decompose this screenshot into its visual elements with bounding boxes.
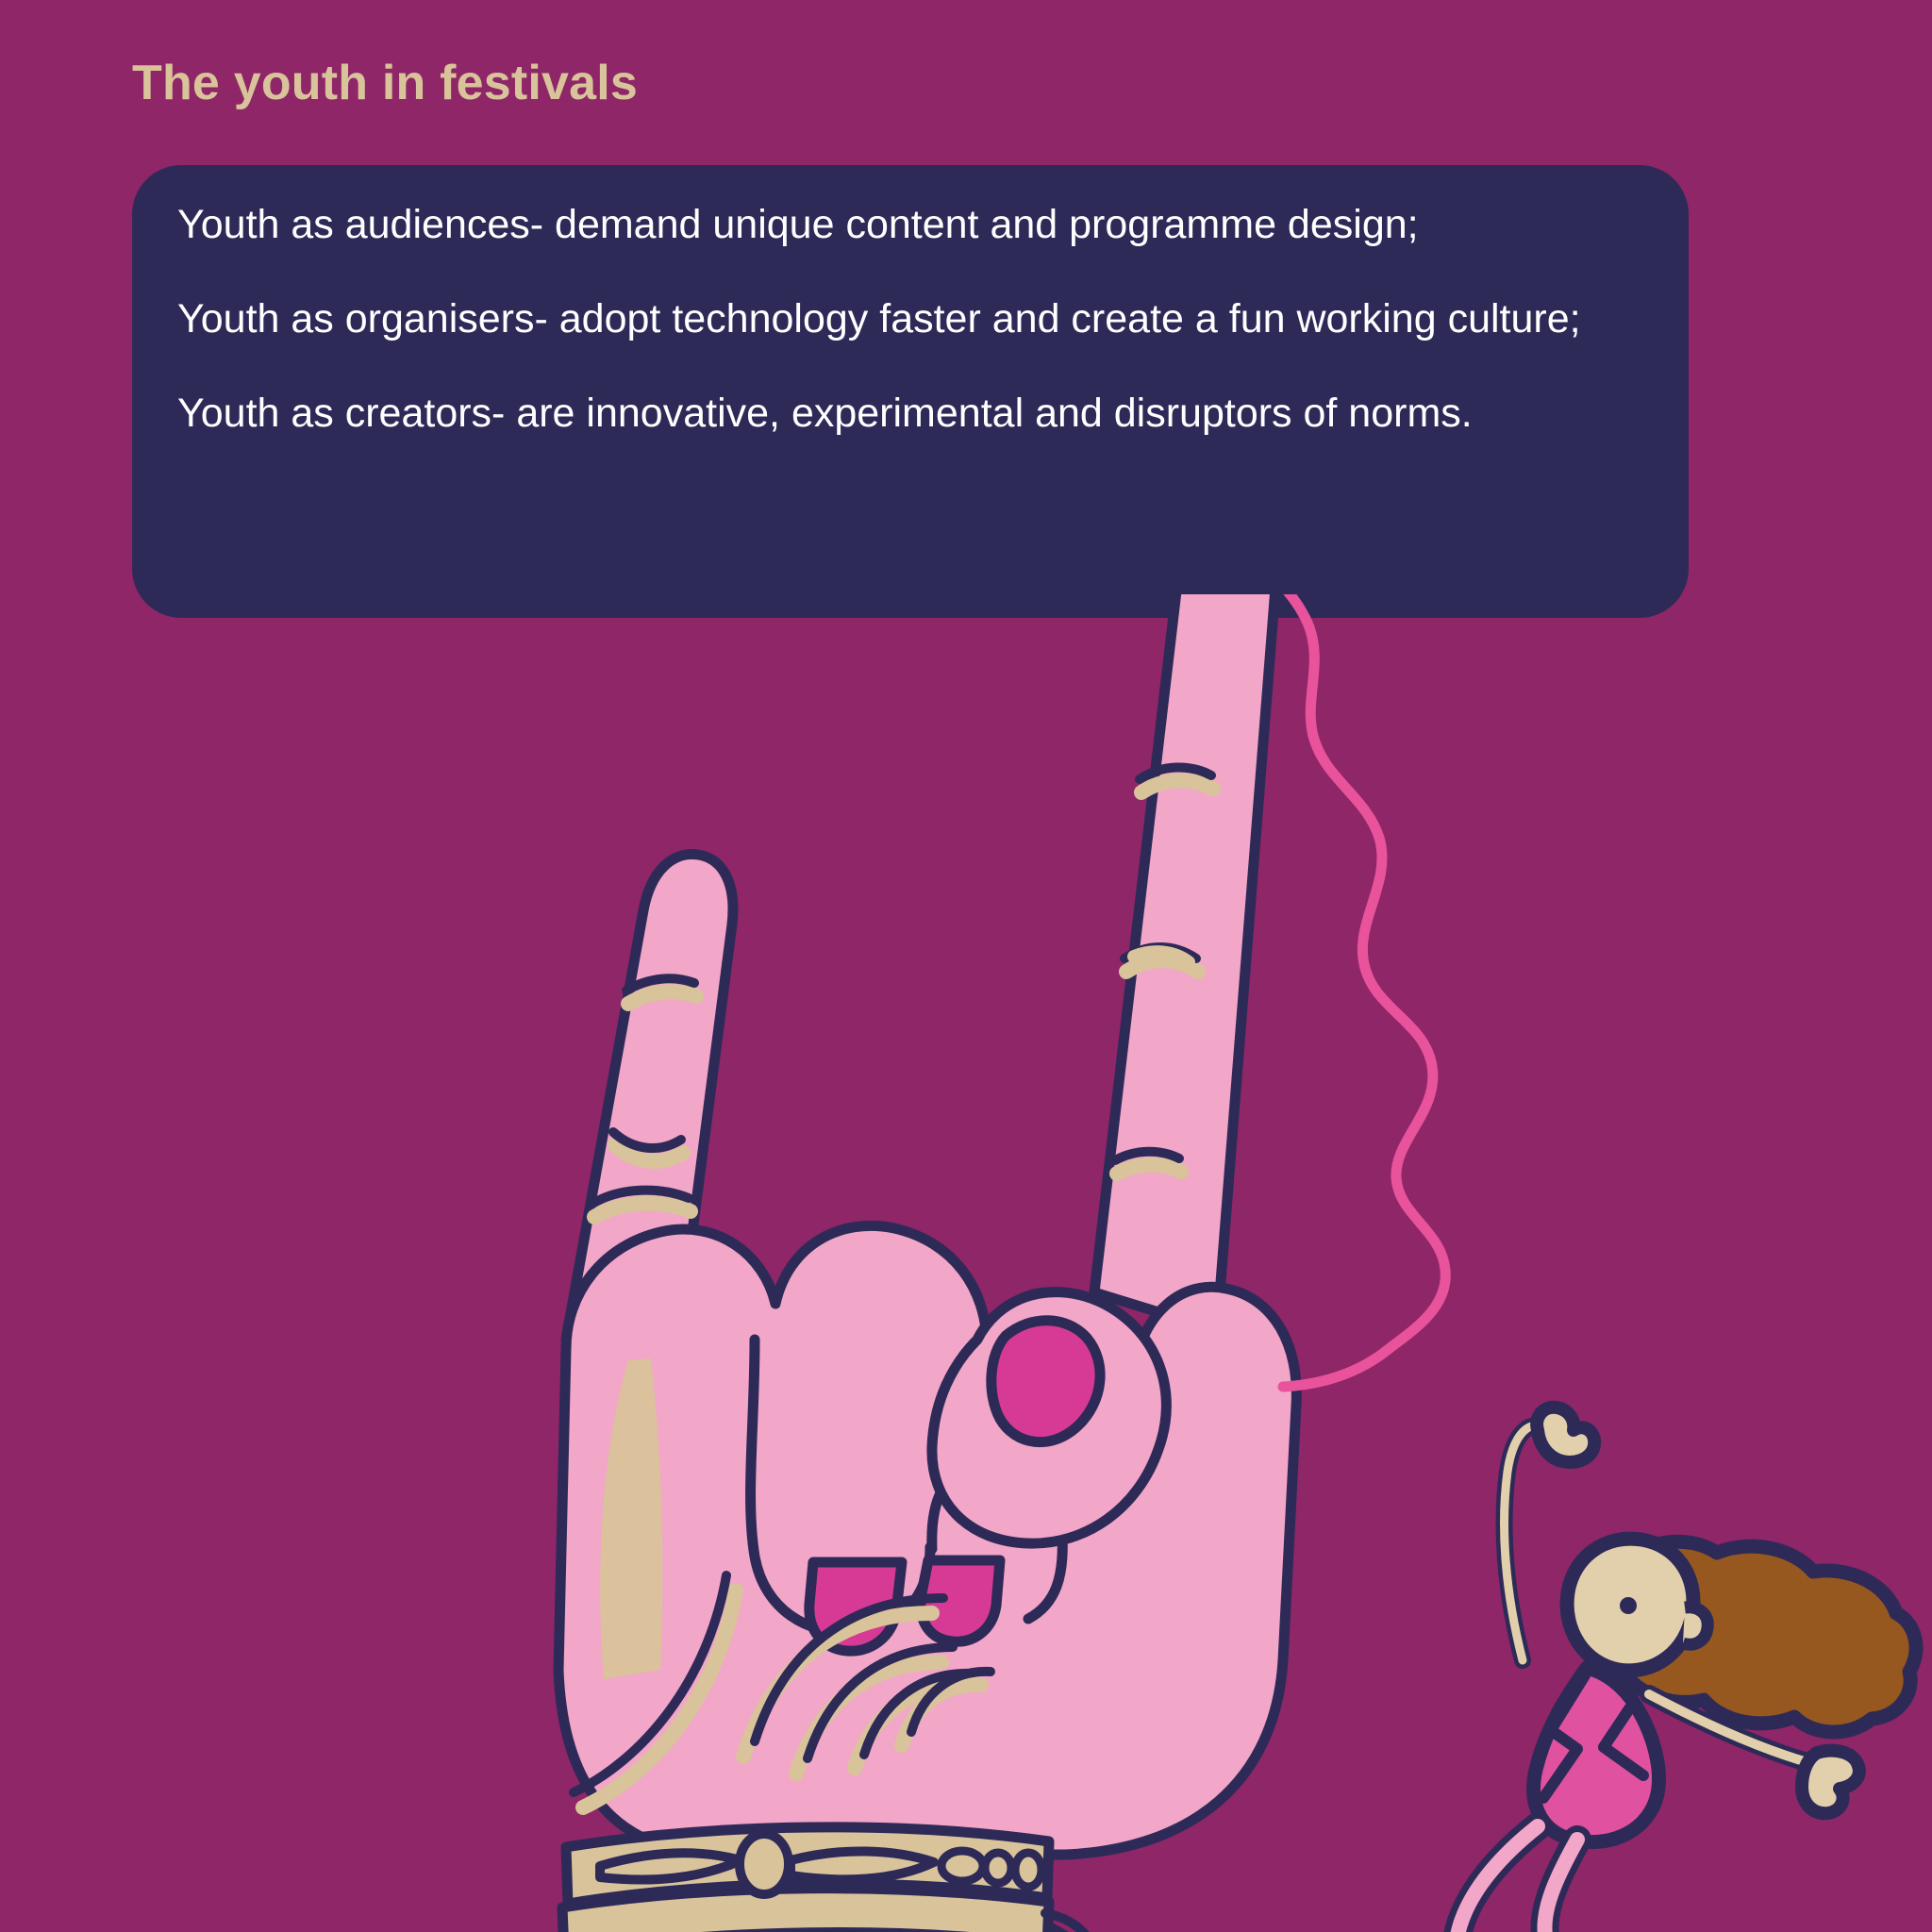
- page-title: The youth in festivals: [132, 57, 638, 110]
- figure-raised-fist: [1537, 1407, 1594, 1462]
- card-paragraph-audiences: Youth as audiences- demand unique conten…: [177, 199, 1643, 252]
- figure-mouth: [1683, 1607, 1707, 1644]
- swinging-figure: [1454, 1407, 1916, 1932]
- figure-eye: [1620, 1597, 1637, 1614]
- hand-group: [558, 594, 1296, 1932]
- thumbnail: [991, 1321, 1100, 1442]
- card-paragraph-organisers: Youth as organisers- adopt technology fa…: [177, 293, 1643, 346]
- festival-wristband-lower: [562, 1889, 1049, 1932]
- slide-root: The youth in festivals Youth as audience…: [0, 0, 1932, 1932]
- card-paragraph-creators: Youth as creators- are innovative, exper…: [177, 388, 1643, 441]
- text-card: Youth as audiences- demand unique conten…: [132, 165, 1689, 618]
- illustration-rock-hand: [0, 594, 1932, 1932]
- figure-outstretched-hand: [1802, 1751, 1859, 1814]
